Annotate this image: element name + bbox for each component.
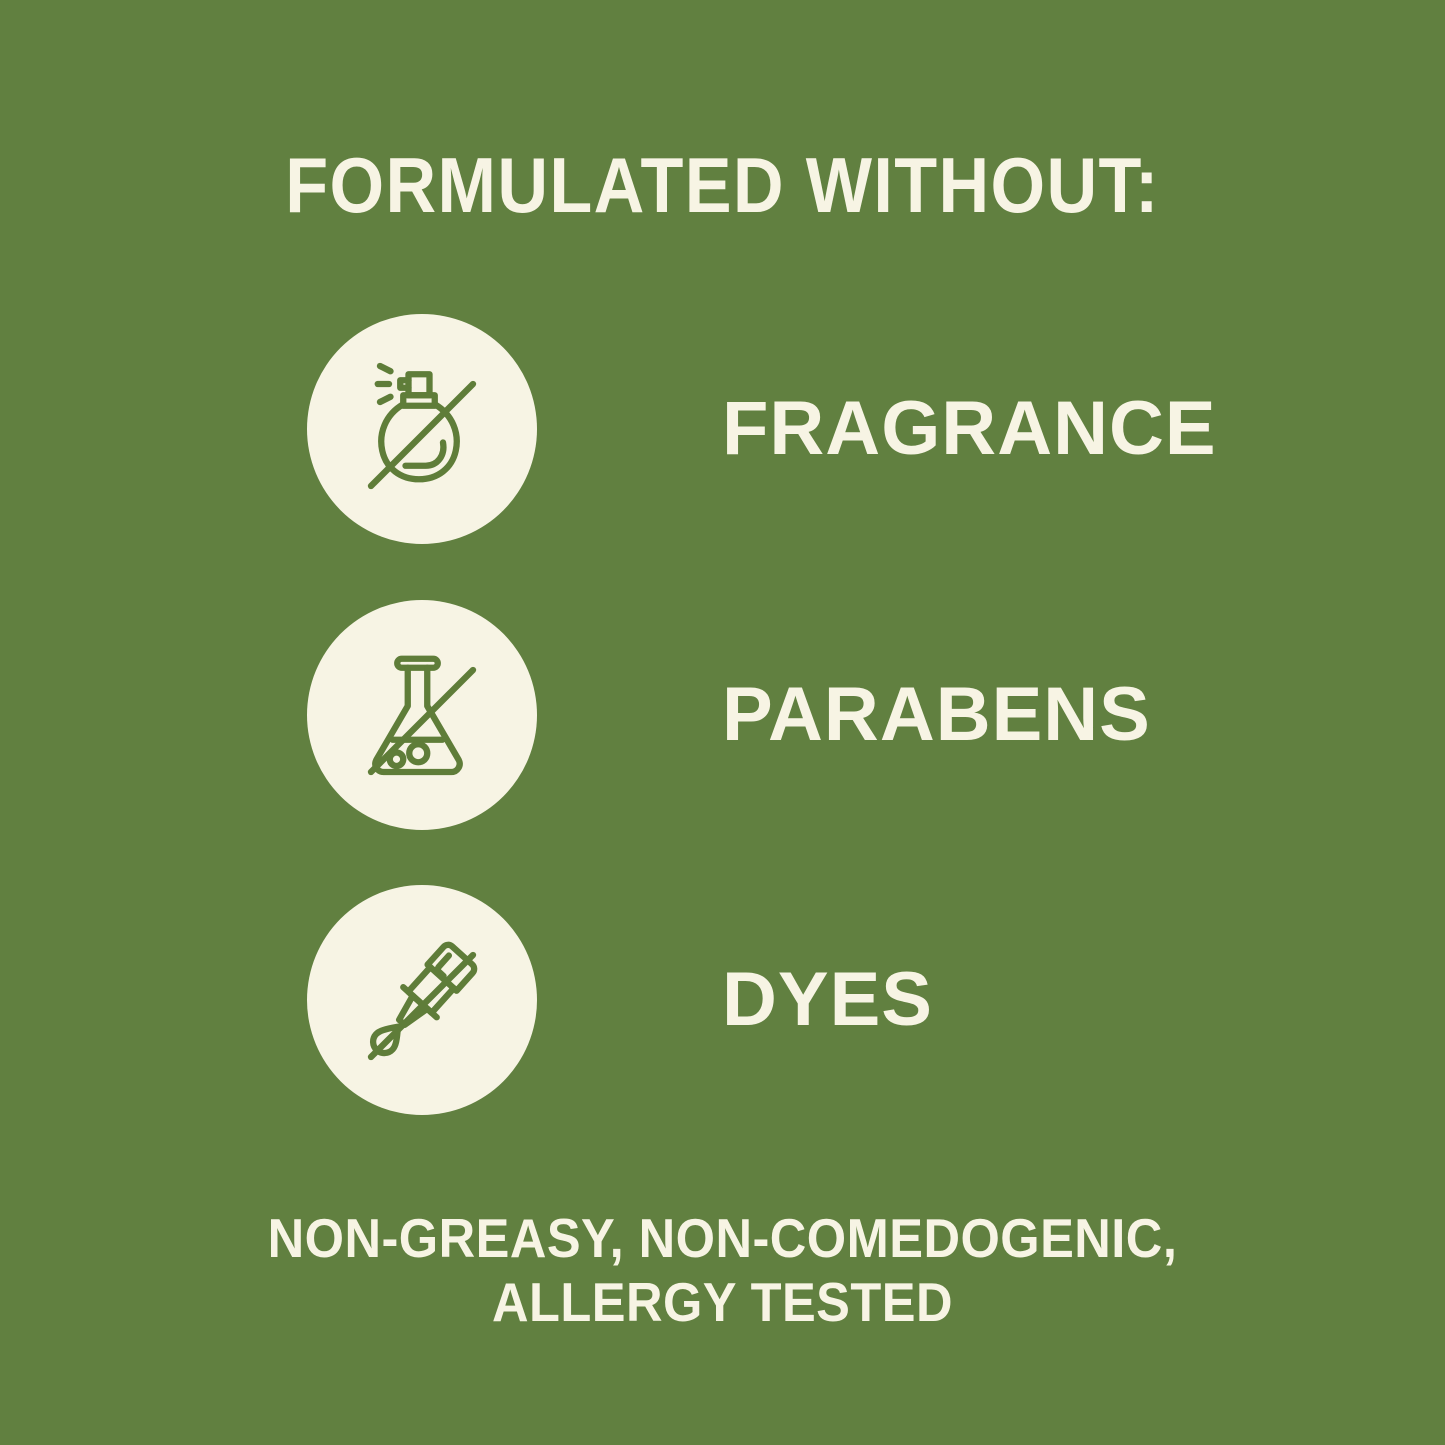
no-flask-icon <box>307 600 537 830</box>
claim-row-dyes: DYES <box>307 885 1307 1115</box>
claim-row-parabens: PARABENS <box>307 600 1307 830</box>
footer-line-1: NON-GREASY, NON-COMEDOGENIC, <box>58 1207 1387 1271</box>
claim-label-parabens: PARABENS <box>722 677 1151 753</box>
footer-claims: NON-GREASY, NON-COMEDOGENIC, ALLERGY TES… <box>58 1207 1387 1335</box>
no-dropper-icon <box>307 885 537 1115</box>
claim-row-fragrance: FRAGRANCE <box>307 314 1307 544</box>
claim-label-dyes: DYES <box>722 962 933 1038</box>
no-fragrance-bottle-icon <box>307 314 537 544</box>
claim-label-fragrance: FRAGRANCE <box>722 391 1217 467</box>
formulated-without-poster: FORMULATED WITHOUT: <box>0 0 1445 1445</box>
footer-line-2: ALLERGY TESTED <box>58 1271 1387 1335</box>
